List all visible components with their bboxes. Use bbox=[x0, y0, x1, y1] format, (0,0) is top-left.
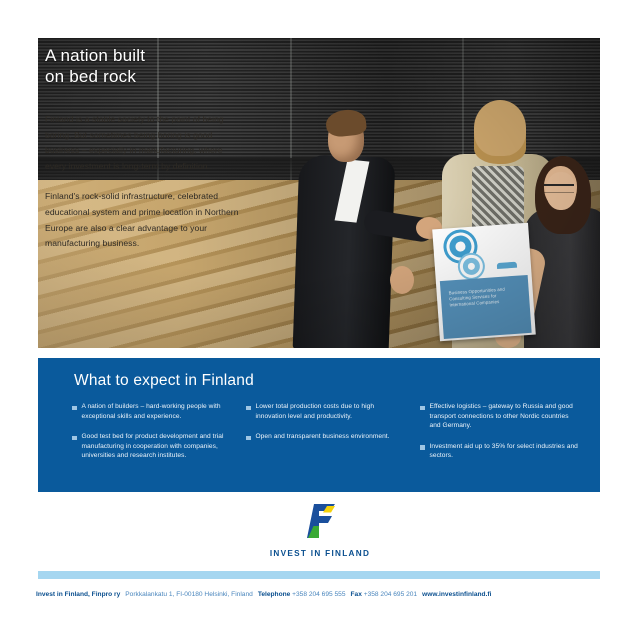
brochure-title-panel: Business Opportunities and Consulting Se… bbox=[440, 275, 532, 339]
panel-title: What to expect in Finland bbox=[74, 372, 254, 390]
list-item: Investment aid up to 35% for select indu… bbox=[420, 442, 580, 461]
list-item: A nation of builders – hard-working peop… bbox=[72, 402, 232, 421]
list-item: Good test bed for product development an… bbox=[72, 432, 232, 461]
glasses-icon bbox=[544, 184, 574, 193]
list-item-label: Investment aid up to 35% for select indu… bbox=[430, 442, 581, 461]
footer-telephone-value: +358 204 695 555 bbox=[292, 591, 345, 598]
logo-wordmark: INVEST IN FINLAND bbox=[0, 549, 640, 558]
list-item: Effective logistics – gateway to Russia … bbox=[420, 402, 580, 431]
hero-title-line-2: on bed rock bbox=[45, 67, 136, 86]
panel-column-3: Effective logistics – gateway to Russia … bbox=[420, 402, 580, 472]
footer-address: Porkkalankatu 1, FI-00180 Helsinki, Finl… bbox=[125, 591, 253, 598]
panel-column-1: A nation of builders – hard-working peop… bbox=[72, 402, 232, 472]
brochure-accent-mark bbox=[497, 262, 517, 269]
brochure-board: Business Opportunities and Consulting Se… bbox=[432, 223, 536, 341]
brochure-title-text: Business Opportunities and Consulting Se… bbox=[449, 285, 522, 308]
bullet-square-icon bbox=[72, 436, 77, 441]
expectations-panel: What to expect in Finland A nation of bu… bbox=[38, 358, 600, 492]
hero-paragraph-1: Finland is a stable society to the point… bbox=[45, 112, 245, 174]
footer-organisation: Invest in Finland, Finpro ry bbox=[36, 591, 120, 598]
footer-fax-value: +358 204 695 201 bbox=[364, 591, 417, 598]
list-item: Open and transparent business environmen… bbox=[246, 432, 406, 442]
footer-telephone-label: Telephone bbox=[258, 591, 290, 598]
panel-column-2: Lower total production costs due to high… bbox=[246, 402, 406, 472]
gear-icon-small bbox=[462, 257, 480, 275]
hero-title-line-1: A nation built bbox=[45, 46, 145, 65]
page-title: A nation built on bed rock bbox=[45, 45, 245, 87]
hero-copy-block: A nation built on bed rock Finland is a … bbox=[45, 45, 245, 252]
bullet-square-icon bbox=[246, 436, 251, 441]
list-item-label: Lower total production costs due to high… bbox=[256, 402, 407, 421]
footer-contact-line: Invest in Finland, Finpro ryPorkkalankat… bbox=[36, 590, 616, 600]
footer-divider-rule bbox=[38, 571, 600, 579]
man-hand-lower bbox=[390, 266, 414, 294]
list-item-label: A nation of builders – hard-working peop… bbox=[82, 402, 233, 421]
panel-columns: A nation of builders – hard-working peop… bbox=[72, 402, 580, 472]
list-item: Lower total production costs due to high… bbox=[246, 402, 406, 421]
bullet-square-icon bbox=[246, 406, 251, 411]
brochure-page: Business Opportunities and Consulting Se… bbox=[0, 0, 640, 640]
footer-fax-label: Fax bbox=[351, 591, 362, 598]
list-item-label: Effective logistics – gateway to Russia … bbox=[430, 402, 581, 431]
footer-website-link[interactable]: www.investinfinland.fi bbox=[422, 591, 491, 598]
brochure-cog-graphic bbox=[432, 223, 531, 276]
list-item-label: Open and transparent business environmen… bbox=[256, 432, 390, 442]
hero-paragraph-2: Finland's rock-solid infrastructure, cel… bbox=[45, 189, 245, 251]
gear-icon-large bbox=[449, 235, 472, 258]
invest-in-finland-logo-icon bbox=[301, 504, 339, 538]
bullet-square-icon bbox=[72, 406, 77, 411]
brand-logo: INVEST IN FINLAND bbox=[0, 504, 640, 558]
bullet-square-icon bbox=[420, 406, 425, 411]
woman1-hair bbox=[474, 100, 526, 156]
bullet-square-icon bbox=[420, 445, 425, 450]
list-item-label: Good test bed for product development an… bbox=[82, 432, 233, 461]
